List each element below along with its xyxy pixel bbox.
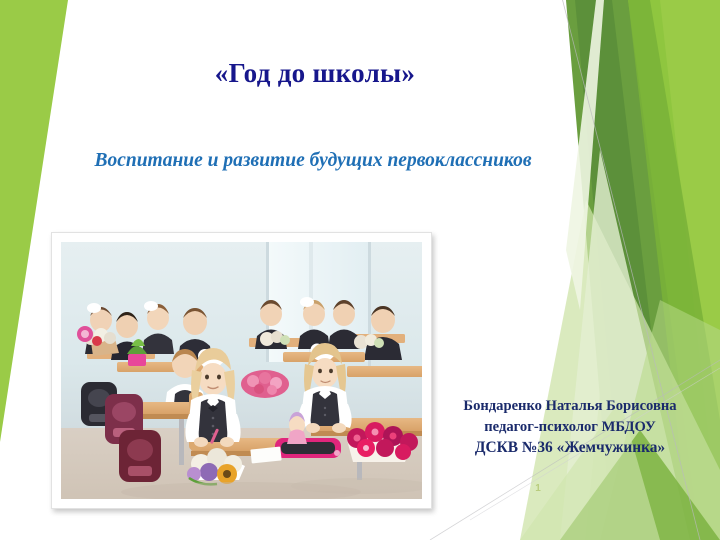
pale-green-overlay-b (560, 150, 690, 540)
presentation-slide: «Год до школы» Воспитание и развитие буд… (0, 0, 720, 540)
page-number: 1 (531, 483, 545, 494)
pencil-case (275, 438, 341, 458)
slide-subtitle: Воспитание и развитие будущих первокласс… (78, 148, 548, 175)
author-name: Бондаренко Наталья Борисовна (432, 396, 708, 417)
slide-title: «Год до школы» (80, 58, 550, 89)
pale-green-overlay-a (520, 200, 720, 540)
author-role: педагог-психолог МБДОУ (432, 417, 708, 438)
title-container: «Год до школы» (80, 58, 550, 89)
backpack-right-floor (119, 430, 161, 482)
author-institution: ДСКВ №36 «Жемчужинка» (432, 437, 708, 459)
bouquet-center-pink (241, 370, 289, 398)
author-container: Бондаренко Наталья Борисовна педагог-пси… (432, 396, 708, 459)
photo-frame (51, 232, 432, 509)
classroom-photo (61, 242, 422, 499)
subtitle-container: Воспитание и развитие будущих первокласс… (78, 148, 548, 175)
pale-green-overlay-d (566, 0, 604, 310)
